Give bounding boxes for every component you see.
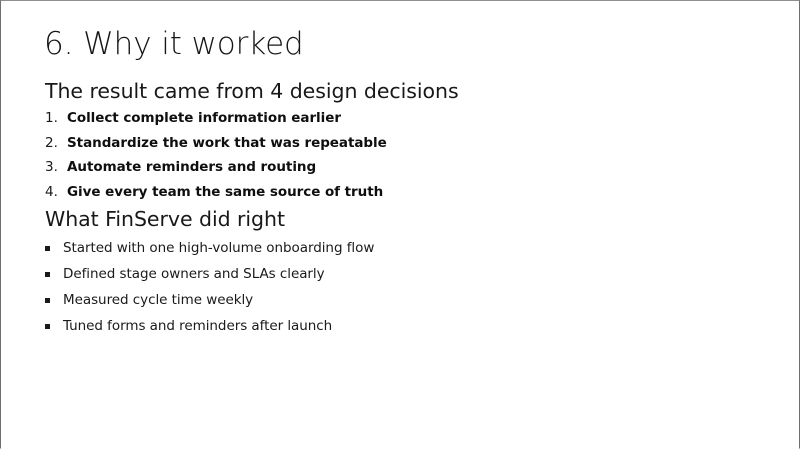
list-item: Tuned forms and reminders after launch — [45, 313, 374, 339]
list-item-number: 1. — [45, 106, 67, 131]
square-bullet-icon — [45, 246, 63, 251]
list-item-label: Automate reminders and routing — [67, 155, 316, 180]
page-title: 6. Why it worked — [44, 25, 304, 63]
list-item: 1. Collect complete information earlier — [45, 106, 387, 131]
list-item: Measured cycle time weekly — [45, 287, 374, 313]
subtitle: The result came from 4 design decisions — [45, 78, 459, 104]
list-item-label: Give every team the same source of truth — [67, 180, 383, 205]
list-item: 3. Automate reminders and routing — [45, 155, 387, 180]
list-item: Started with one high-volume onboarding … — [45, 235, 374, 261]
list-item: 2. Standardize the work that was repeata… — [45, 131, 387, 156]
list-item-number: 2. — [45, 131, 67, 156]
square-bullet-icon — [45, 324, 63, 329]
list-item: 4. Give every team the same source of tr… — [45, 180, 387, 205]
list-item-number: 4. — [45, 180, 67, 205]
numbered-list: 1. Collect complete information earlier … — [45, 106, 387, 204]
list-item-label: Started with one high-volume onboarding … — [63, 235, 374, 261]
slide-canvas: 6. Why it worked The result came from 4 … — [0, 0, 800, 449]
bullet-list: Started with one high-volume onboarding … — [45, 235, 374, 339]
section-heading: What FinServe did right — [45, 206, 285, 232]
list-item-label: Standardize the work that was repeatable — [67, 131, 387, 156]
list-item-label: Tuned forms and reminders after launch — [63, 313, 332, 339]
square-bullet-icon — [45, 298, 63, 303]
list-item: Defined stage owners and SLAs clearly — [45, 261, 374, 287]
square-bullet-icon — [45, 272, 63, 277]
list-item-label: Measured cycle time weekly — [63, 287, 253, 313]
list-item-label: Collect complete information earlier — [67, 106, 341, 131]
list-item-label: Defined stage owners and SLAs clearly — [63, 261, 325, 287]
list-item-number: 3. — [45, 155, 67, 180]
